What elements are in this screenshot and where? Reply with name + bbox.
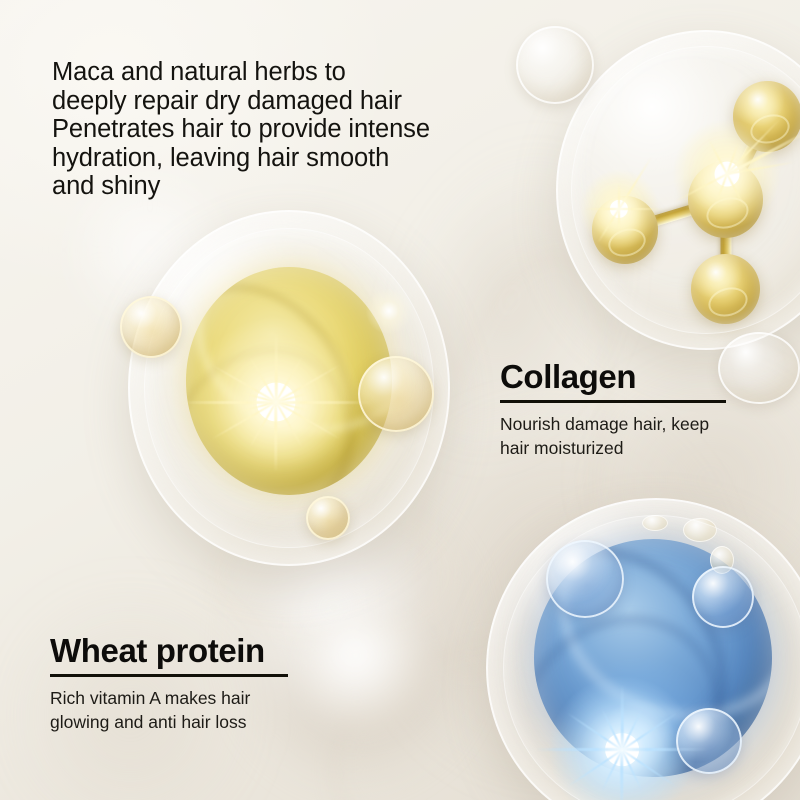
- flare-ray: [567, 712, 623, 751]
- molecule-node-center: [688, 161, 763, 238]
- flare-ray: [276, 364, 341, 403]
- infographic-canvas: Maca and natural herbs to deeply repair …: [0, 0, 800, 800]
- flare-ray: [275, 402, 303, 448]
- oil-droplet: [683, 518, 717, 542]
- flare-ray: [707, 138, 728, 174]
- flare-ray: [212, 401, 277, 440]
- collagen-title: Collagen: [500, 358, 756, 396]
- flare-ray: [249, 402, 277, 448]
- flare-ray: [727, 161, 796, 175]
- serum-bubble-left: [120, 296, 182, 358]
- flare-core: [610, 200, 628, 218]
- flare-ray: [276, 401, 341, 440]
- flare-ray: [276, 391, 315, 403]
- flare-ray: [621, 750, 624, 800]
- flare-ray: [621, 749, 677, 788]
- collagen-bubble-top-left: [516, 26, 594, 104]
- flare-ray: [726, 119, 780, 175]
- flare-core: [605, 733, 639, 767]
- protein-bubble-bottom: [676, 708, 742, 774]
- molecule-bond: [623, 194, 727, 235]
- flare-ray: [237, 401, 276, 413]
- protein-bubble-top-left: [546, 540, 624, 618]
- flare-ray: [621, 686, 624, 750]
- flare-core: [257, 383, 296, 422]
- flare-halo: [190, 316, 363, 489]
- flare-halo: [672, 119, 782, 229]
- serum-swirl: [186, 267, 392, 459]
- flare-ray: [597, 209, 620, 244]
- flare-ray: [618, 156, 653, 210]
- flare-ray: [275, 332, 278, 402]
- serum-swirl: [186, 313, 387, 495]
- molecule-node-bottom: [691, 254, 760, 324]
- flare-ray: [726, 174, 747, 210]
- serum-bubble-right: [358, 356, 434, 432]
- serum-bubble-bottom: [306, 496, 350, 540]
- ingredient-wheat-protein: Wheat protein Rich vitamin A makes hair …: [50, 632, 322, 734]
- background-glass-blur-b: [305, 610, 425, 730]
- oil-droplet: [642, 515, 668, 531]
- ingredient-collagen: Collagen Nourish damage hair, keep hair …: [500, 358, 756, 460]
- molecule-node-left: [592, 196, 658, 263]
- flare-ray: [249, 357, 277, 403]
- collagen-molecule-sphere: [556, 30, 800, 350]
- flare-ray: [180, 401, 276, 404]
- flare-ray: [714, 174, 728, 207]
- flare-ray: [621, 749, 643, 791]
- flare-ray: [726, 124, 800, 175]
- flare-core: [715, 162, 740, 187]
- molecule-bond: [720, 200, 731, 290]
- wheat-protein-title: Wheat protein: [50, 632, 322, 670]
- flare-ray: [536, 748, 622, 751]
- flare-ray: [212, 364, 277, 403]
- wheat-protein-sphere: [486, 498, 800, 800]
- flare-ray: [276, 401, 315, 413]
- flare-ray: [601, 749, 623, 791]
- collagen-rule: [500, 400, 726, 403]
- protein-bubble-right: [692, 566, 754, 628]
- molecule-node-top: [733, 81, 800, 151]
- flare-halo: [579, 169, 660, 250]
- flare-ray: [237, 391, 276, 403]
- flare-ray: [618, 209, 620, 235]
- flare-ray: [275, 357, 303, 403]
- flare-ray: [619, 208, 663, 210]
- flare-halo: [547, 675, 697, 800]
- wheat-protein-rule: [50, 674, 288, 677]
- flare-ray: [618, 183, 620, 209]
- flare-ray: [275, 402, 278, 472]
- headline-text: Maca and natural herbs to deeply repair …: [52, 58, 522, 201]
- flare-ray: [726, 142, 740, 175]
- flare-ray: [621, 712, 677, 751]
- glass-glint: [366, 288, 412, 334]
- molecule-bond: [721, 114, 773, 202]
- flare-ray: [567, 749, 623, 788]
- wheat-protein-description: Rich vitamin A makes hair glowing and an…: [50, 686, 322, 734]
- flare-ray: [621, 708, 643, 750]
- flare-ray: [601, 708, 623, 750]
- collagen-description: Nourish damage hair, keep hair moisturiz…: [500, 412, 756, 460]
- flare-ray: [674, 173, 728, 203]
- flare-ray: [585, 208, 619, 210]
